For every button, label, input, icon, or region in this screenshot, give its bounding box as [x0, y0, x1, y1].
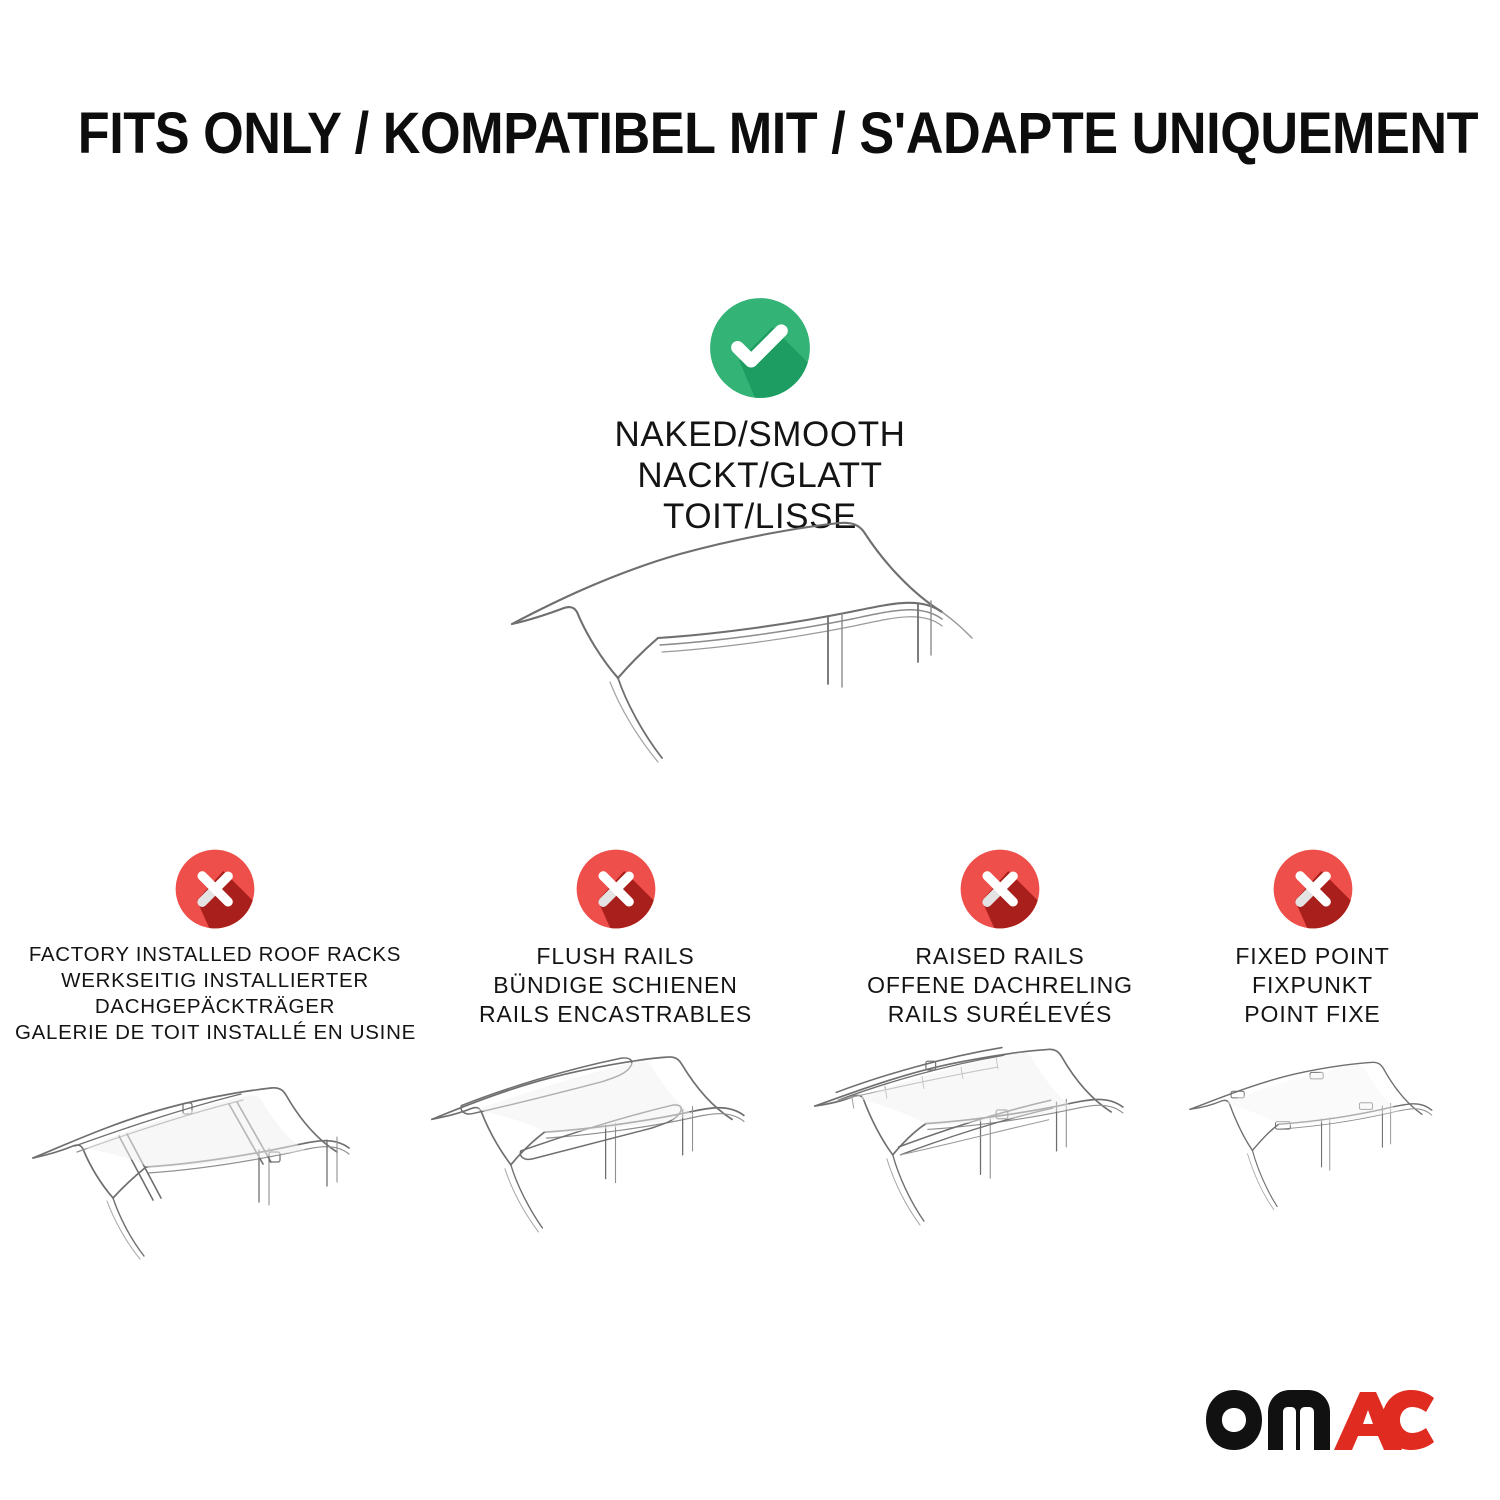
incompatible-label-flush-rails: FLUSH RAILS BÜNDIGE SCHIENEN RAILS ENCAS…: [418, 942, 813, 1029]
page-title-text: FITS ONLY / KOMPATIBEL MIT / S'ADAPTE UN…: [78, 103, 1478, 165]
label-line-3: RAILS SURÉLEVÉS: [805, 1000, 1195, 1029]
label-line-3: POINT FIXE: [1185, 1000, 1440, 1029]
incompatible-label-raised-rails: RAISED RAILS OFFENE DACHRELING RAILS SUR…: [805, 942, 1195, 1029]
incompatible-item-flush-rails: FLUSH RAILS BÜNDIGE SCHIENEN RAILS ENCAS…: [418, 848, 813, 1253]
car-roof-factory-racks-illustration: [15, 1060, 415, 1270]
car-roof-fixed-point-illustration: [1185, 1043, 1440, 1253]
incompatible-row: FACTORY INSTALLED ROOF RACKS WERKSEITIG …: [0, 848, 1500, 1278]
incompatible-item-raised-rails: RAISED RAILS OFFENE DACHRELING RAILS SUR…: [805, 848, 1195, 1253]
car-roof-flush-rails-illustration: [418, 1043, 813, 1253]
car-roof-naked-smooth-illustration: [490, 512, 1050, 802]
incompatible-item-factory-racks: FACTORY INSTALLED ROOF RACKS WERKSEITIG …: [15, 848, 415, 1270]
check-circle-icon: [708, 296, 812, 400]
label-line-3: DACHGEPÄCKTRÄGER: [15, 994, 415, 1020]
incompatible-label-factory-racks: FACTORY INSTALLED ROOF RACKS WERKSEITIG …: [15, 942, 415, 1046]
label-line-1: FLUSH RAILS: [418, 942, 813, 971]
label-line-1: FIXED POINT: [1185, 942, 1440, 971]
label-line-1: FACTORY INSTALLED ROOF RACKS: [15, 942, 415, 968]
label-line-4: GALERIE DE TOIT INSTALLÉ EN USINE: [15, 1020, 415, 1046]
compatible-label-line-1: NAKED/SMOOTH: [450, 414, 1070, 455]
car-roof-raised-rails-illustration: [805, 1043, 1195, 1253]
label-line-3: RAILS ENCASTRABLES: [418, 1000, 813, 1029]
label-line-2: BÜNDIGE SCHIENEN: [418, 971, 813, 1000]
omac-logo: [1200, 1386, 1440, 1458]
label-line-1: RAISED RAILS: [805, 942, 1195, 971]
label-line-2: FIXPUNKT: [1185, 971, 1440, 1000]
x-circle-icon: [1272, 848, 1354, 930]
compatible-label-line-2: NACKT/GLATT: [450, 455, 1070, 496]
compatible-section: NAKED/SMOOTH NACKT/GLATT TOIT/LISSE: [450, 296, 1070, 537]
label-line-2: WERKSEITIG INSTALLIERTER: [15, 968, 415, 994]
x-circle-icon: [959, 848, 1041, 930]
x-circle-icon: [174, 848, 256, 930]
incompatible-label-fixed-point: FIXED POINT FIXPUNKT POINT FIXE: [1185, 942, 1440, 1029]
page-title: FITS ONLY / KOMPATIBEL MIT / S'ADAPTE UN…: [0, 103, 1500, 165]
label-line-2: OFFENE DACHRELING: [805, 971, 1195, 1000]
incompatible-item-fixed-point: FIXED POINT FIXPUNKT POINT FIXE: [1185, 848, 1440, 1253]
x-circle-icon: [575, 848, 657, 930]
